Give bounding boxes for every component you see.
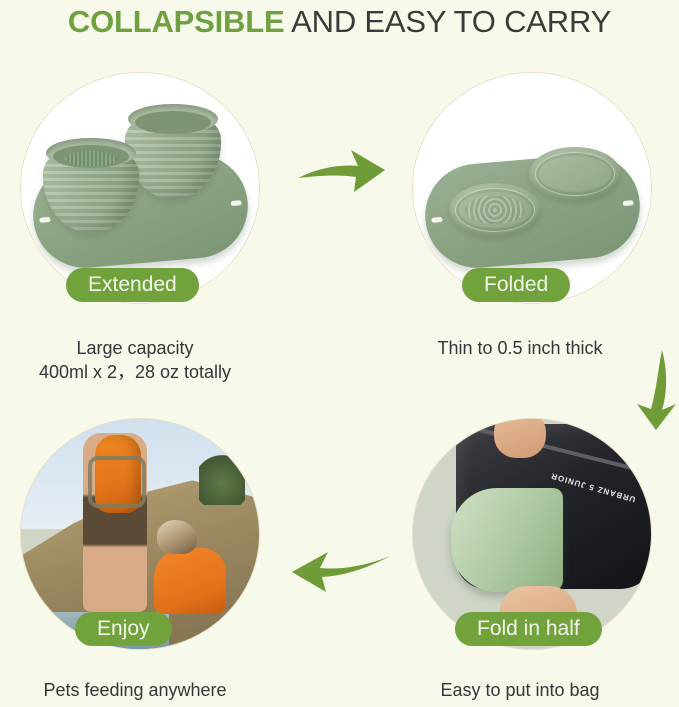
caption-extended: Large capacity 400ml x 2，28 oz totally: [0, 336, 270, 384]
caption-enjoy: Pets feeding anywhere: [0, 678, 270, 702]
caption-folded-line1: Thin to 0.5 inch thick: [380, 336, 660, 360]
arrow-down-icon: [634, 348, 678, 437]
dog-head: [157, 520, 197, 554]
dog-harness: [154, 548, 226, 614]
caption-extended-line1: Large capacity: [0, 336, 270, 360]
bowl-right-folded: [529, 147, 621, 201]
badge-extended: Extended: [66, 268, 199, 302]
caption-extended-line2: 400ml x 2，28 oz totally: [0, 360, 270, 384]
bowl-cavity: [135, 111, 211, 134]
bowl-left-folded: [449, 183, 541, 237]
arrow-right-icon: [296, 140, 388, 207]
backpack-straps: [88, 456, 146, 508]
caption-enjoy-line1: Pets feeding anywhere: [0, 678, 270, 702]
shrub: [199, 451, 245, 505]
caption-fold-in-half: Easy to put into bag: [380, 678, 660, 702]
badge-fold-in-half: Fold in half: [455, 612, 602, 646]
caption-folded: Thin to 0.5 inch thick: [380, 336, 660, 360]
bowl-cap: [543, 158, 607, 190]
page-title-rest: AND EASY TO CARRY: [284, 4, 611, 39]
arrow-left-icon: [288, 540, 392, 603]
page-title: COLLAPSIBLE AND EASY TO CARRY: [0, 2, 679, 42]
hand-upper: [494, 418, 546, 458]
drain-grid-icon: [465, 196, 525, 224]
page-title-highlight: COLLAPSIBLE: [68, 4, 285, 39]
badge-enjoy: Enjoy: [75, 612, 172, 646]
caption-fold-in-half-line1: Easy to put into bag: [380, 678, 660, 702]
drain-grid-icon: [65, 151, 117, 167]
folded-mat-in-hand: [451, 488, 563, 592]
badge-folded: Folded: [462, 268, 570, 302]
